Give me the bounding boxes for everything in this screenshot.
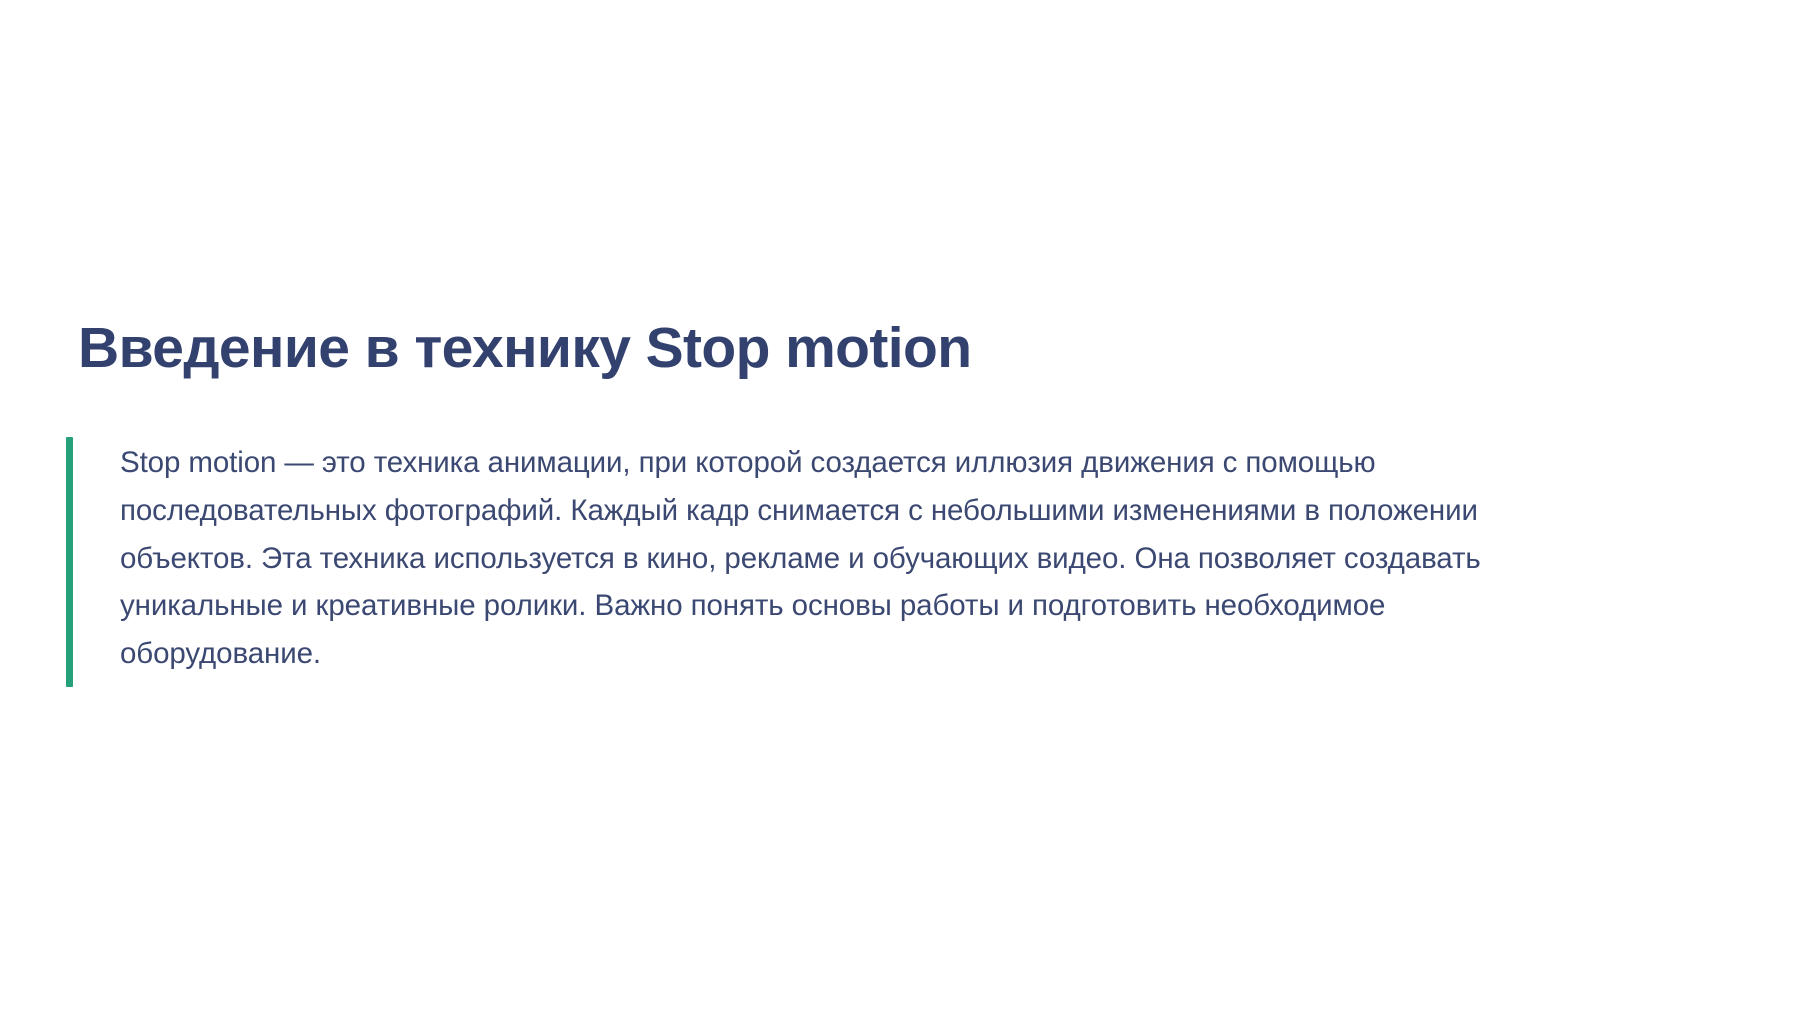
body-quote-block: Stop motion — это техника анимации, при … [66,437,1516,687]
slide-content: Введение в технику Stop motion Stop moti… [0,0,1800,1013]
slide-canvas: Введение в технику Stop motion Stop moti… [0,0,1800,1013]
body-paragraph: Stop motion — это техника анимации, при … [73,437,1516,687]
accent-bar [66,437,73,687]
page-title: Введение в технику Stop motion [78,315,1578,382]
